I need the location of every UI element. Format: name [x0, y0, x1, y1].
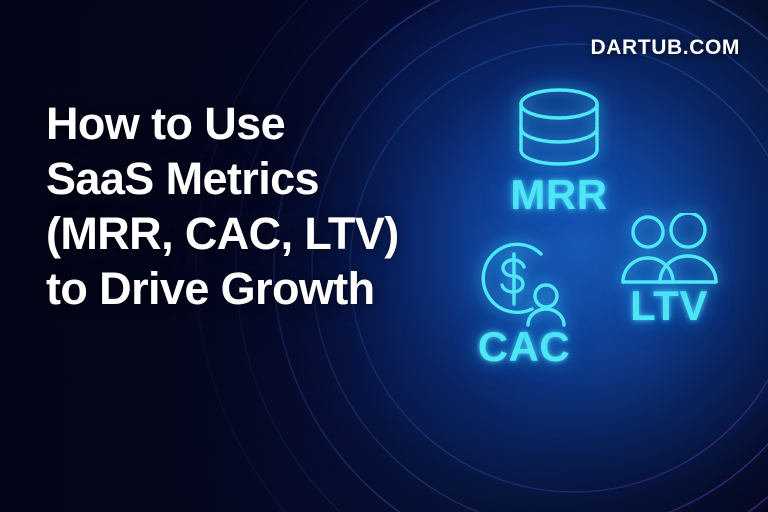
poster-canvas: DARTUB.COM How to Use SaaS Metrics (MRR,… [0, 0, 768, 512]
metric-label-cac: CAC [478, 326, 571, 368]
two-people-group-icon [615, 213, 723, 291]
database-cylinder-icon [507, 86, 611, 170]
dollar-circle-person-icon [470, 232, 578, 328]
metric-item-ltv: LTV [615, 213, 723, 327]
metric-label-ltv: LTV [630, 285, 708, 327]
metric-cluster: MRR CAC [0, 0, 768, 512]
metric-label-mrr: MRR [510, 174, 607, 216]
metric-item-mrr: MRR [507, 86, 611, 216]
metric-item-cac: CAC [470, 232, 578, 368]
